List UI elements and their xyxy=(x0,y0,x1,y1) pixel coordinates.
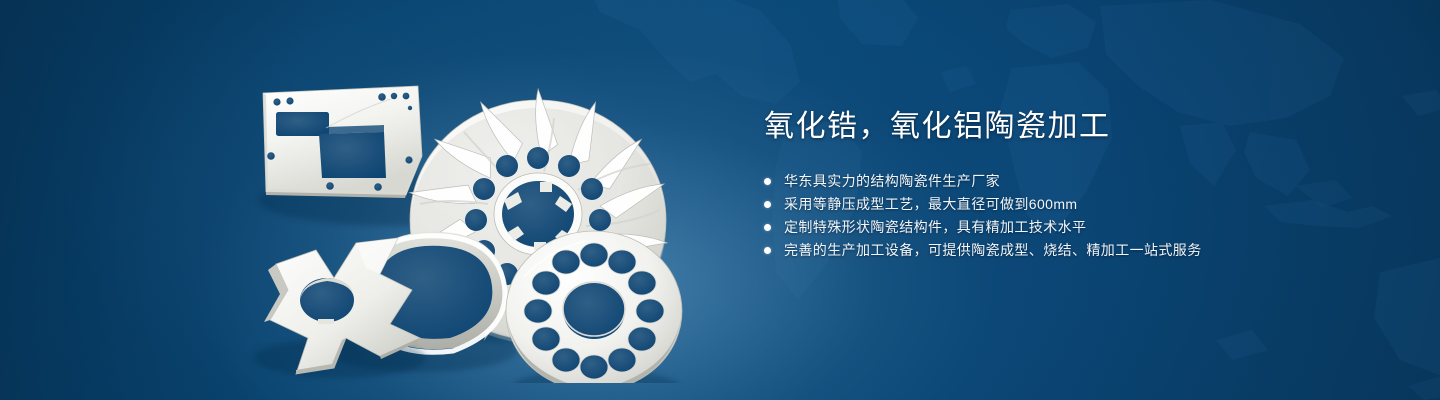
feature-list: 华东具实力的结构陶瓷件生产厂家 采用等静压成型工艺，最大直径可做到600mm 定… xyxy=(764,170,1384,262)
feature-text-3: 定制特殊形状陶瓷结构件，具有精加工技术水平 xyxy=(784,216,1086,239)
product-photo-group xyxy=(230,38,700,383)
banner-content: 氧化锆，氧化铝陶瓷加工 华东具实力的结构陶瓷件生产厂家 采用等静压成型工艺，最大… xyxy=(764,106,1384,262)
bullet-dot-icon xyxy=(764,178,771,185)
banner-headline: 氧化锆，氧化铝陶瓷加工 xyxy=(764,106,1384,148)
promo-banner: 氧化锆，氧化铝陶瓷加工 华东具实力的结构陶瓷件生产厂家 采用等静压成型工艺，最大… xyxy=(0,0,1440,400)
feature-text-4: 完善的生产加工设备，可提供陶瓷成型、烧结、精加工一站式服务 xyxy=(784,239,1202,262)
ceramic-perforated-disc xyxy=(506,231,682,383)
bullet-dot-icon xyxy=(764,247,771,254)
bullet-dot-icon xyxy=(764,224,771,231)
feature-text-2: 采用等静压成型工艺，最大直径可做到600mm xyxy=(784,193,1077,216)
feature-item-1: 华东具实力的结构陶瓷件生产厂家 xyxy=(764,170,1384,193)
feature-item-4: 完善的生产加工设备，可提供陶瓷成型、烧结、精加工一站式服务 xyxy=(764,239,1384,262)
feature-item-3: 定制特殊形状陶瓷结构件，具有精加工技术水平 xyxy=(764,216,1384,239)
feature-item-2: 采用等静压成型工艺，最大直径可做到600mm xyxy=(764,193,1384,216)
feature-text-1: 华东具实力的结构陶瓷件生产厂家 xyxy=(784,170,1000,193)
bullet-dot-icon xyxy=(764,201,771,208)
